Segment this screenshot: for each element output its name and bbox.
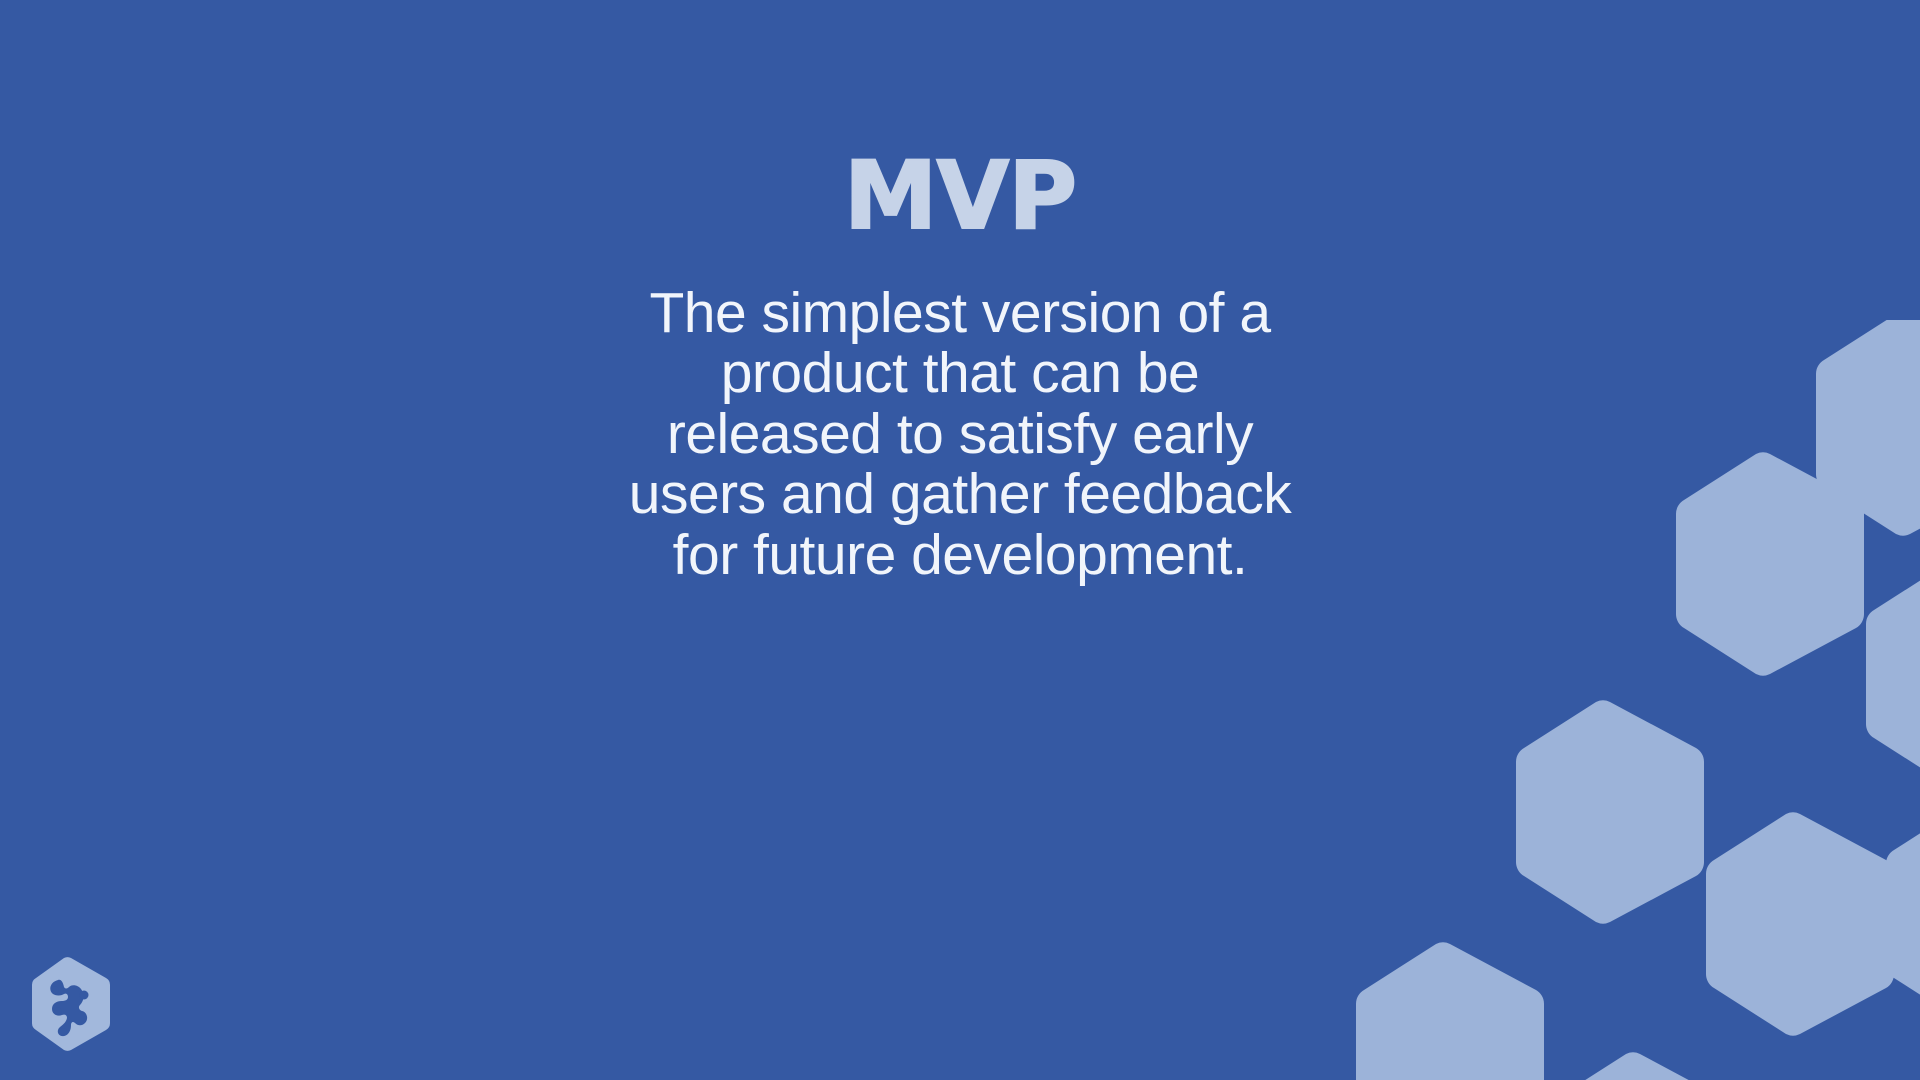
page-title: MVP bbox=[0, 150, 1920, 244]
slide-body-text: The simplest version of a product that c… bbox=[570, 283, 1350, 585]
slide-canvas: MVP The simplest version of a product th… bbox=[0, 0, 1920, 1080]
slide-content: MVP The simplest version of a product th… bbox=[0, 0, 1920, 1080]
